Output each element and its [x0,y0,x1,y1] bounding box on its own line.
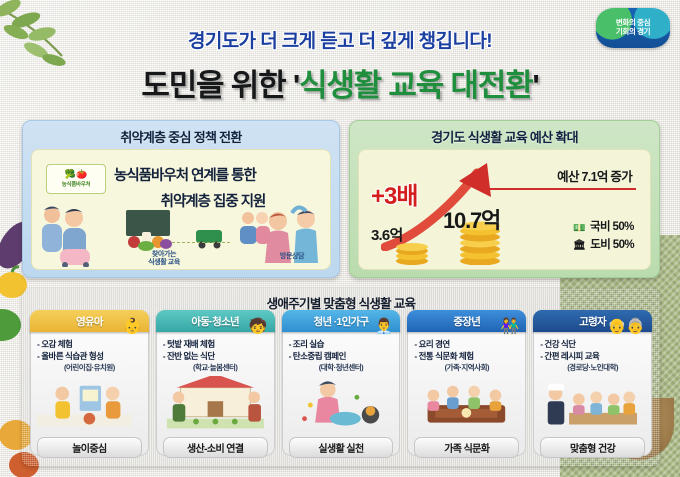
bullet-1: - 건강 식단 [540,338,645,350]
lifecycle-card-1[interactable]: 영유아👶- 오감 체험- 올바른 식습관 형성(어린이집·유치원)놀이중심 [30,310,149,456]
lifecycle-card-footer-4: 가족 식문화 [414,437,519,458]
bullet-1: - 조리 실습 [289,338,394,350]
legend-item-province: 🏛 도비 50% [573,237,634,255]
lifecycle-card-body-1: - 오감 체험- 올바른 식습관 형성(어린이집·유치원)놀이중심 [30,332,149,456]
gyeonggi-province-logo: 변화의 중심 기회의 경기 [596,8,670,48]
lifecycle-card-footer-3: 실생활 실천 [289,437,394,458]
mid-panel-row: 취약계층 중심 정책 전환 🥦🍅 농식품바우처 농식품바우처 연계를 통한 취약… [22,120,660,278]
lifecycle-card-body-2: - 텃밭 재배 체험- 잔반 없는 식단(학교·놀봄센터)생산-소비 연결 [156,332,275,456]
person-icon-1: 👶 [123,319,142,334]
lifecycle-card-header-2: 아동·청소년🧒 [156,310,275,332]
multiplier-label: +3배 [371,176,417,211]
lifecycle-card-venue-1: (어린이집·유치원) [37,363,142,374]
person-icon-4: 👫 [501,319,520,334]
policy-shift-panel: 취약계층 중심 정책 전환 🥦🍅 농식품바우처 농식품바우처 연계를 통한 취약… [22,120,340,278]
bullet-2: - 간편 레시피 교육 [540,350,645,362]
lifecycle-card-illustration-5 [540,376,645,435]
lifecycle-card-footer-5: 맞춤형 건강 [540,437,645,458]
person-icon-2: 🧒 [249,319,268,334]
lifecycle-card-label-5: 고령자 [579,314,606,329]
family-illustration [34,201,112,267]
budget-increase-underline [486,188,636,190]
lifecycle-card-bullets-4: - 요리 경연- 전통 식문화 체험(가족·지역사회) [414,338,519,374]
lifecycle-section: 생애주기별 맞춤형 식생활 교육 영유아👶- 오감 체험- 올바른 식습관 형성… [22,288,660,466]
caption-outreach-line2: 식생활 교육 [148,259,180,266]
lifecycle-card-header-5: 고령자👴👵 [533,310,652,332]
coin-stack-before-icon [395,243,429,265]
funding-legend: 💵 국비 50% 🏛 도비 50% [573,219,634,255]
lifecycle-card-illustration-2 [163,376,268,435]
lifecycle-card-label-4: 중장년 [453,314,480,329]
bullet-2: - 잔반 없는 식단 [163,350,268,362]
lifecycle-card-illustration-1 [37,376,142,435]
lifecycle-card-illustration-3 [289,376,394,435]
lifecycle-card-2[interactable]: 아동·청소년🧒- 텃밭 재배 체험- 잔반 없는 식단(학교·놀봄센터)생산-소… [156,310,275,456]
caption-outreach-education: 찾아가는 식생활 교육 [128,251,200,267]
lifecycle-card-body-3: - 조리 실습- 탄소중립 캠페인(대학·청년센터)실생활 실천 [282,332,401,456]
lifecycle-card-venue-5: (경로당·노인대학) [540,363,645,374]
lifecycle-card-label-1: 영유아 [76,314,103,329]
lifecycle-card-header-3: 청년 ·1인가구👨‍💼 [282,310,401,332]
budget-increase-text: 예산 7.1억 증가 [557,166,632,185]
lifecycle-section-title: 생애주기별 맞춤형 식생활 교육 [22,288,660,312]
lifecycle-card-body-4: - 요리 경연- 전통 식문화 체험(가족·지역사회)가족 식문화 [407,332,526,456]
main-headline-highlight: 식생활 교육 대전환 [299,68,532,103]
money-bag-icon: 💵 [573,221,585,237]
lifecycle-card-4[interactable]: 중장년👫- 요리 경연- 전통 식문화 체험(가족·지역사회)가족 식문화 [407,310,526,456]
legend-label-national: 국비 50% [590,219,634,237]
person-icon-3: 👨‍💼 [375,319,394,334]
lifecycle-card-illustration-4 [414,376,519,435]
caption-outreach-line1: 찾아가는 [152,251,176,258]
bullet-2: - 전통 식문화 체험 [414,350,519,362]
voucher-food-icon: 🥦🍅 [65,170,87,179]
lifecycle-card-bullets-3: - 조리 실습- 탄소중립 캠페인(대학·청년센터) [289,338,394,374]
lifecycle-card-body-5: - 건강 식단- 간편 레시피 교육(경로당·노인대학)맞춤형 건강 [533,332,652,456]
infographic-poster: 경기도가 더 크게 듣고 더 깊게 챙깁니다! 도민을 위한 '식생활 교육 대… [0,0,680,477]
person-icon-5: 👴👵 [608,319,645,334]
sub-headline: 경기도가 더 크게 듣고 더 깊게 챙깁니다! [0,26,680,53]
bullet-1: - 요리 경연 [414,338,519,350]
lifecycle-card-footer-1: 놀이중심 [37,437,142,458]
bullet-2: - 탄소중립 캠페인 [289,350,394,362]
policy-shift-title: 취약계층 중심 정책 전환 [23,121,339,150]
voucher-label: 농식품바우처 [62,180,91,188]
food-voucher-logo: 🥦🍅 농식품바우처 [46,164,106,194]
budget-expansion-panel: 경기도 식생활 교육 예산 확대 +3배 3.6억 [349,120,660,278]
main-headline-pre: 도민을 위한 ' [141,68,299,103]
lifecycle-card-bullets-1: - 오감 체험- 올바른 식습관 형성(어린이집·유치원) [37,338,142,374]
bullet-2: - 올바른 식습관 형성 [37,350,142,362]
budget-value-after: 10.7억 [443,203,500,235]
lifecycle-card-header-1: 영유아👶 [30,310,149,332]
budget-panel-body: +3배 3.6억 10.7억 예산 7.1억 증가 💵 [358,149,651,270]
headline-block: 경기도가 더 크게 듣고 더 깊게 챙깁니다! 도민을 위한 '식생활 교육 대… [0,26,680,105]
caption-home-visit: 방문상담 [260,253,324,261]
lifecycle-card-label-3: 청년 ·1인가구 [314,314,369,329]
budget-panel-title: 경기도 식생활 교육 예산 확대 [350,121,659,150]
bullet-1: - 오감 체험 [37,338,142,350]
lifecycle-card-header-4: 중장년👫 [407,310,526,332]
legend-item-national: 💵 국비 50% [573,219,634,237]
lifecycle-card-venue-3: (대학·청년센터) [289,363,394,374]
lifecycle-card-footer-2: 생산-소비 연결 [163,437,268,458]
connection-dash-line [172,242,230,243]
lifecycle-card-bullets-2: - 텃밭 재배 체험- 잔반 없는 식단(학교·놀봄센터) [163,338,268,374]
lifecycle-card-bullets-5: - 건강 식단- 간편 레시피 교육(경로당·노인대학) [540,338,645,374]
policy-shift-body: 🥦🍅 농식품바우처 농식품바우처 연계를 통한 취약계층 집중 지원 [31,149,331,270]
lifecycle-card-venue-2: (학교·놀봄센터) [163,363,268,374]
budget-value-before: 3.6억 [371,224,402,245]
legend-label-province: 도비 50% [590,237,634,255]
lifecycle-card-list: 영유아👶- 오감 체험- 올바른 식습관 형성(어린이집·유치원)놀이중심아동·… [30,310,652,456]
bullet-1: - 텃밭 재배 체험 [163,338,268,350]
lifecycle-card-venue-4: (가족·지역사회) [414,363,519,374]
lifecycle-card-label-2: 아동·청소년 [191,314,239,329]
government-building-icon: 🏛 [573,238,585,254]
main-headline-post: ' [532,68,538,103]
lifecycle-card-5[interactable]: 고령자👴👵- 건강 식단- 간편 레시피 교육(경로당·노인대학)맞춤형 건강 [533,310,652,456]
logo-line-2: 기회의 경기 [616,28,650,37]
lifecycle-card-3[interactable]: 청년 ·1인가구👨‍💼- 조리 실습- 탄소중립 캠페인(대학·청년센터)실생활… [282,310,401,456]
policy-line-1: 농식품바우처 연계를 통한 [114,164,324,185]
page-title: 도민을 위한 '식생활 교육 대전환' [0,60,680,105]
